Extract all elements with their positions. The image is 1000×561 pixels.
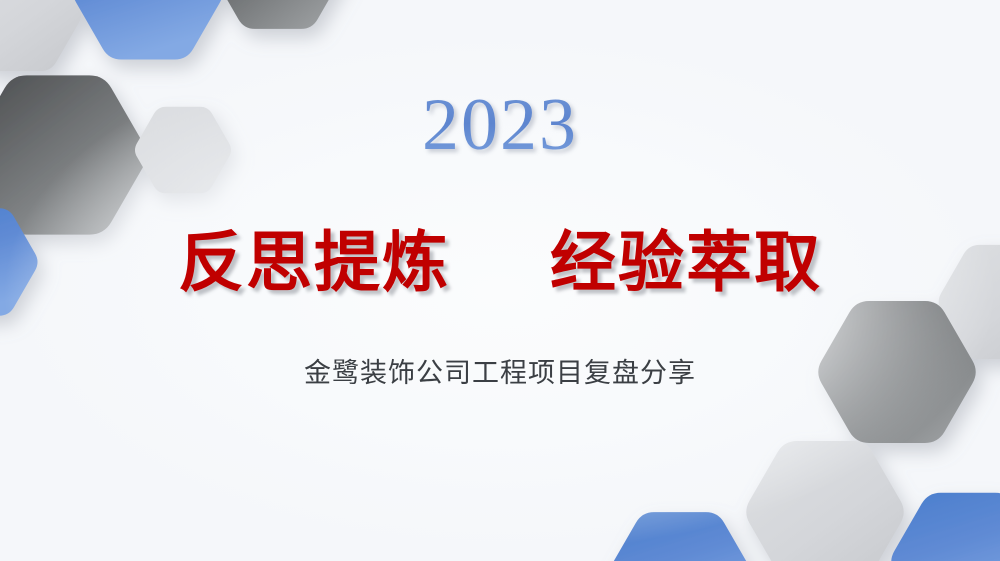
presentation-slide: 2023 反思提炼 经验萃取 金鹭装饰公司工程项目复盘分享 [0, 0, 1000, 561]
slide-content: 2023 反思提炼 经验萃取 金鹭装饰公司工程项目复盘分享 [0, 0, 1000, 561]
year-heading: 2023 [0, 88, 1000, 162]
slide-subtitle: 金鹭装饰公司工程项目复盘分享 [0, 358, 1000, 390]
page-title: 反思提炼 经验萃取 [0, 227, 1000, 298]
